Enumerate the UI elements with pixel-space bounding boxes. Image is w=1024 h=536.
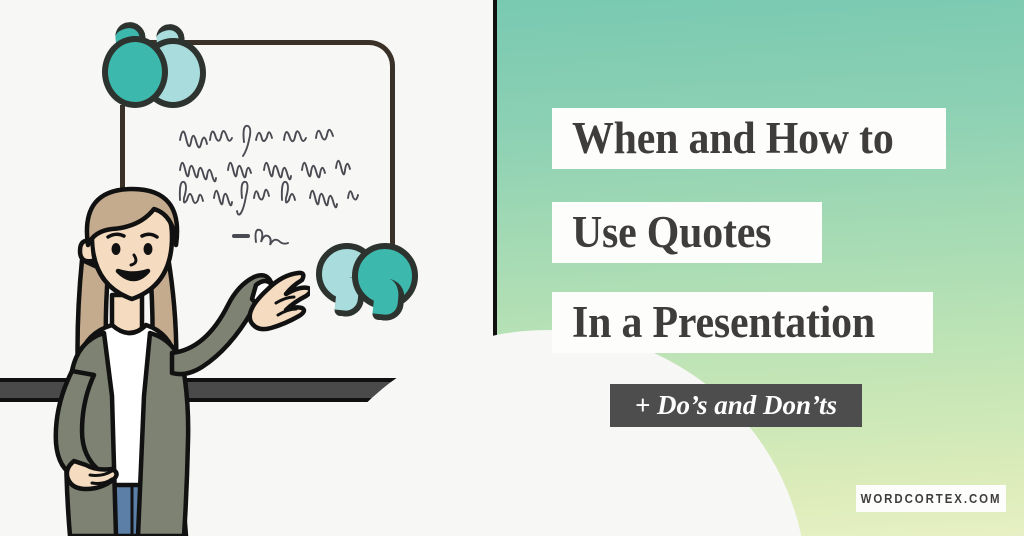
headline-line-1-text: When and How to	[572, 116, 894, 161]
eye-left	[112, 243, 121, 255]
headline-line-3: In a Presentation	[552, 292, 933, 353]
poster-canvas: When and How to Use Quotes In a Presenta…	[0, 0, 1024, 536]
subtitle-badge: + Do’s and Don’ts	[610, 384, 862, 427]
opening-quote-blob-front	[102, 36, 168, 108]
subtitle-text: + Do’s and Don’ts	[635, 390, 837, 421]
gradient-panel	[497, 0, 1024, 536]
site-watermark-badge: WORDCORTEX.COM	[856, 485, 1006, 512]
site-watermark-text: WORDCORTEX.COM	[861, 491, 1002, 506]
presenter-illustration	[20, 185, 310, 536]
headline-line-3-text: In a Presentation	[572, 300, 875, 345]
headline-line-2: Use Quotes	[552, 202, 822, 263]
closing-quote-icon	[316, 243, 421, 333]
headline-line-1: When and How to	[552, 108, 946, 169]
eye-right	[144, 243, 153, 255]
opening-quote-icon	[100, 22, 205, 117]
headline-line-2-text: Use Quotes	[572, 210, 771, 255]
